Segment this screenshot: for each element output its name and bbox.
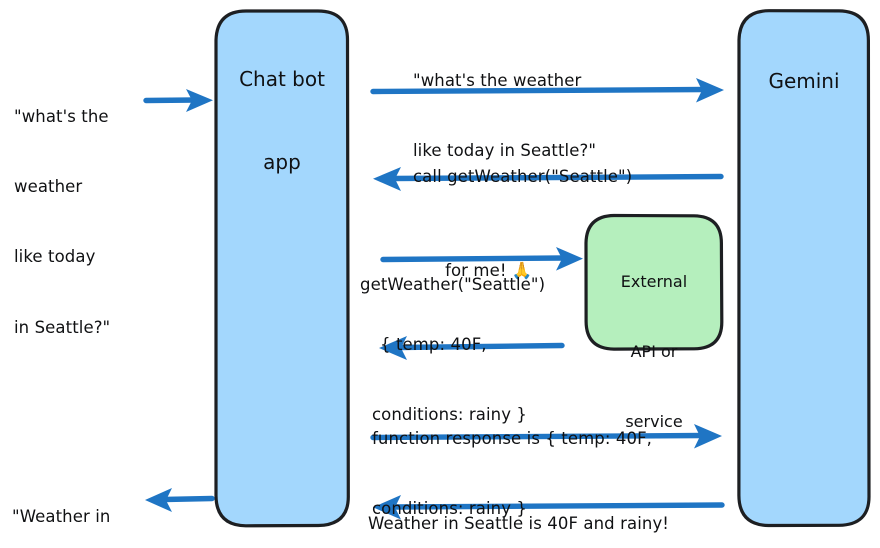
gemini-title: Gemini	[739, 20, 869, 142]
chat-bot-app-title: Chat bot app	[216, 18, 348, 223]
user-request-text: "what's the weather like today in Seattl…	[14, 58, 110, 386]
gemini-title-line1: Gemini	[739, 69, 869, 93]
message-4-line-1: { temp: 40F,	[380, 333, 527, 356]
user-request-line-4: in Seattle?"	[14, 316, 110, 339]
message-5-line-1: function response is { temp: 40F,	[372, 427, 652, 450]
diagram-canvas: .lanebox { fill: #a3d7fd; stroke: #1d1f2…	[0, 0, 880, 548]
chat-bot-app-title-line2: app	[216, 150, 348, 174]
user-request-line-3: like today	[14, 245, 110, 268]
chat-bot-app-title-line1: Chat bot	[216, 67, 348, 91]
message-1-line-1: "what's the weather	[413, 69, 596, 92]
message-6-line-1: Weather in Seattle is 40F and rainy!	[368, 512, 669, 535]
arrow-user-to-chatbot	[146, 89, 213, 112]
user-request-line-2: weather	[14, 175, 110, 198]
arrow-chatbot-to-user	[145, 488, 212, 512]
user-request-line-1: "what's the	[14, 105, 110, 128]
message-gemini-final-answer-label: Weather in Seattle is 40F and rainy!	[368, 465, 669, 548]
message-2-line-1: call getWeather("Seattle")	[413, 165, 632, 188]
user-response-text: "Weather in Seattle is 40F and rainy!"	[12, 458, 141, 548]
user-response-line-1: "Weather in	[12, 505, 141, 528]
